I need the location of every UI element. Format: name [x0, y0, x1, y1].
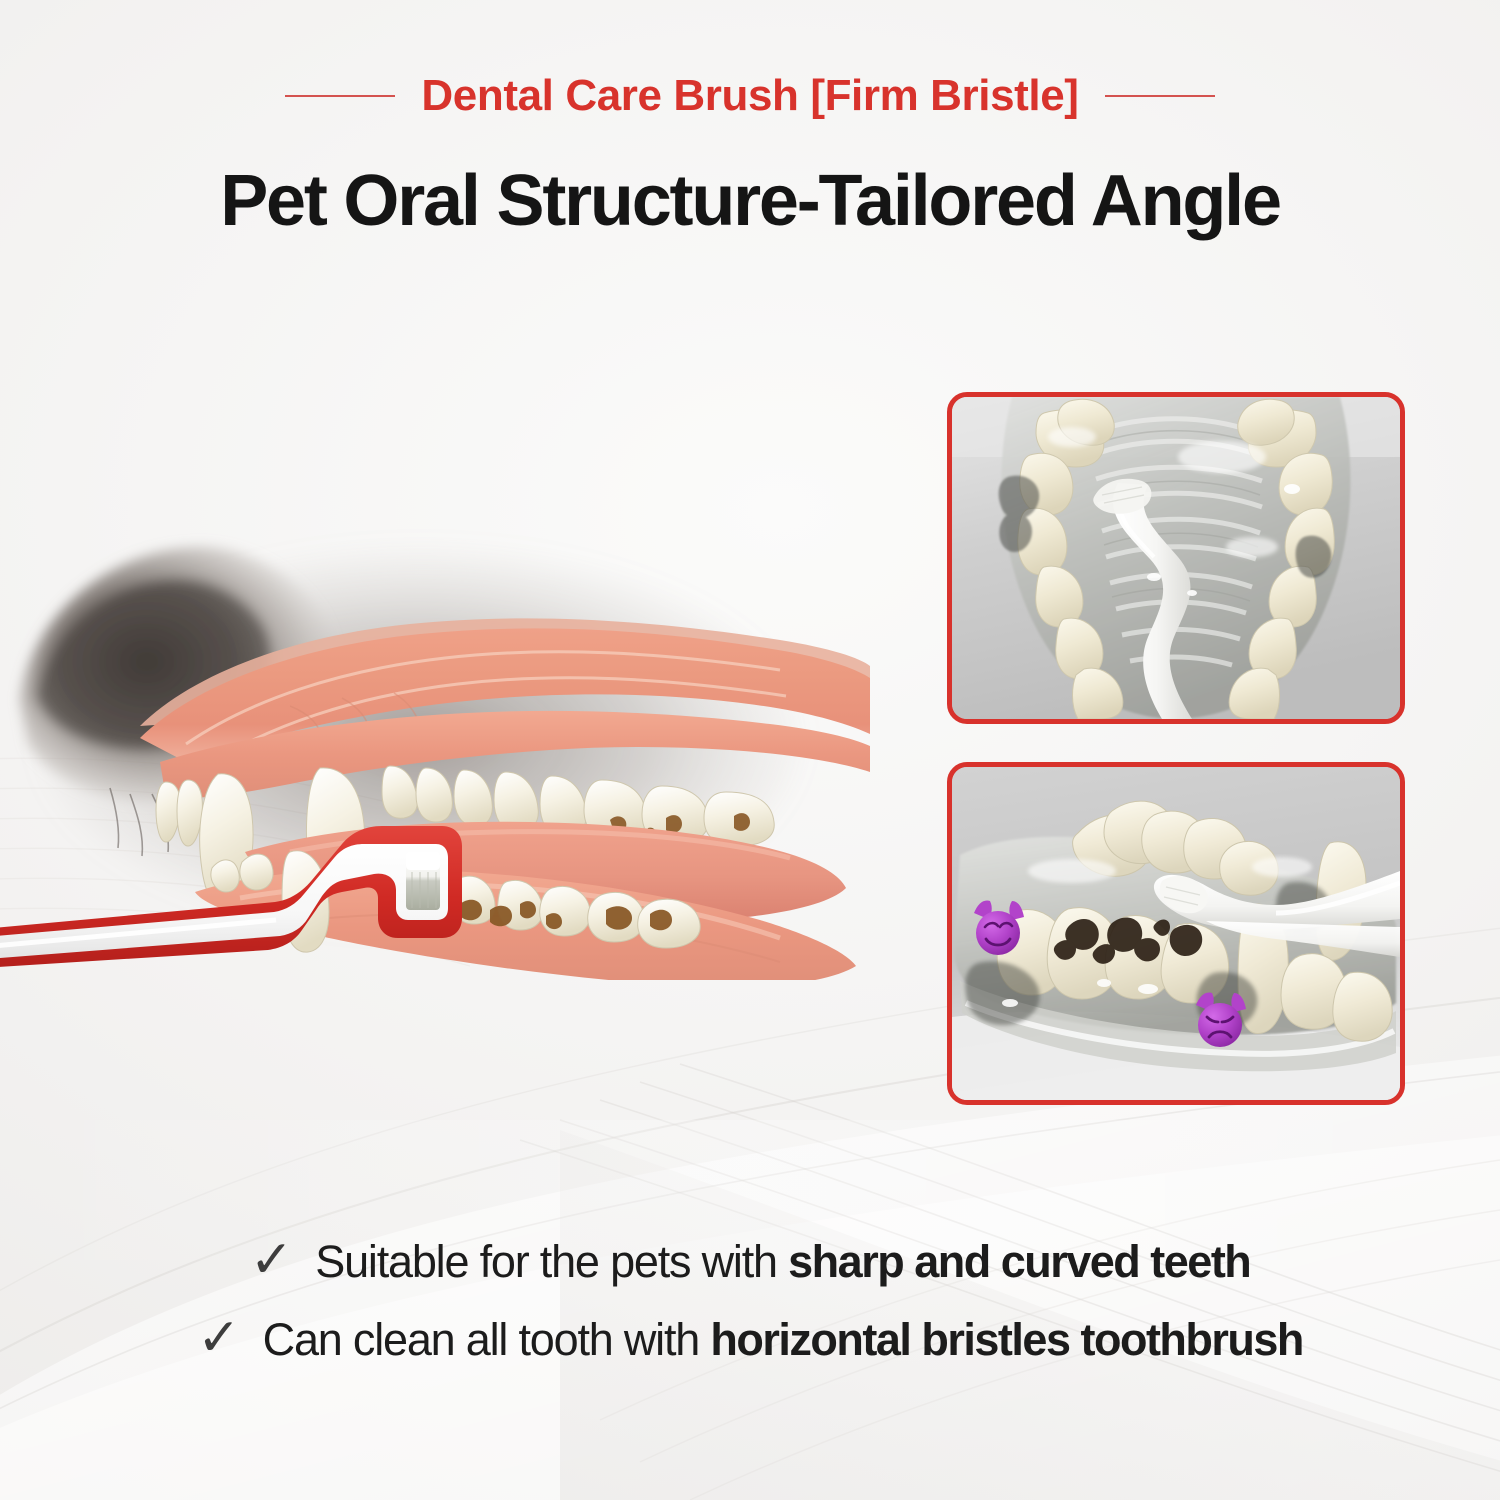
dog-mouth-illustration [0, 500, 870, 980]
eyebrow-rule-left [285, 95, 395, 97]
check-icon: ✓ [197, 1312, 241, 1364]
page-title: Pet Oral Structure-Tailored Angle [0, 164, 1500, 240]
eyebrow-row: Dental Care Brush [Firm Bristle] [0, 74, 1500, 118]
eyebrow-title: Dental Care Brush [Firm Bristle] [421, 74, 1078, 118]
list-item: ✓ Suitable for the pets with sharp and c… [0, 1236, 1500, 1288]
dog-mouth-illustration-svg [0, 500, 870, 980]
bullet-text-emphasis: horizontal bristles toothbrush [710, 1314, 1303, 1365]
jaw-model-side-view-photo [947, 762, 1405, 1105]
bullet-text-emphasis: sharp and curved teeth [788, 1236, 1250, 1287]
jaw-model-front-view-photo [947, 392, 1405, 724]
list-item: ✓ Can clean all tooth with horizontal br… [0, 1314, 1500, 1366]
jaw-model-front-view-graphic [952, 397, 1400, 719]
feature-bullet-list: ✓ Suitable for the pets with sharp and c… [0, 1236, 1500, 1366]
bullet-text: Suitable for the pets with sharp and cur… [315, 1236, 1250, 1288]
bullet-text-lead: Can clean all tooth with [263, 1314, 711, 1365]
bullet-text-lead: Suitable for the pets with [315, 1236, 788, 1287]
check-icon: ✓ [250, 1234, 294, 1286]
eyebrow-rule-right [1105, 95, 1215, 97]
bullet-text: Can clean all tooth with horizontal bris… [263, 1314, 1303, 1366]
jaw-model-side-view-graphic [952, 767, 1400, 1100]
